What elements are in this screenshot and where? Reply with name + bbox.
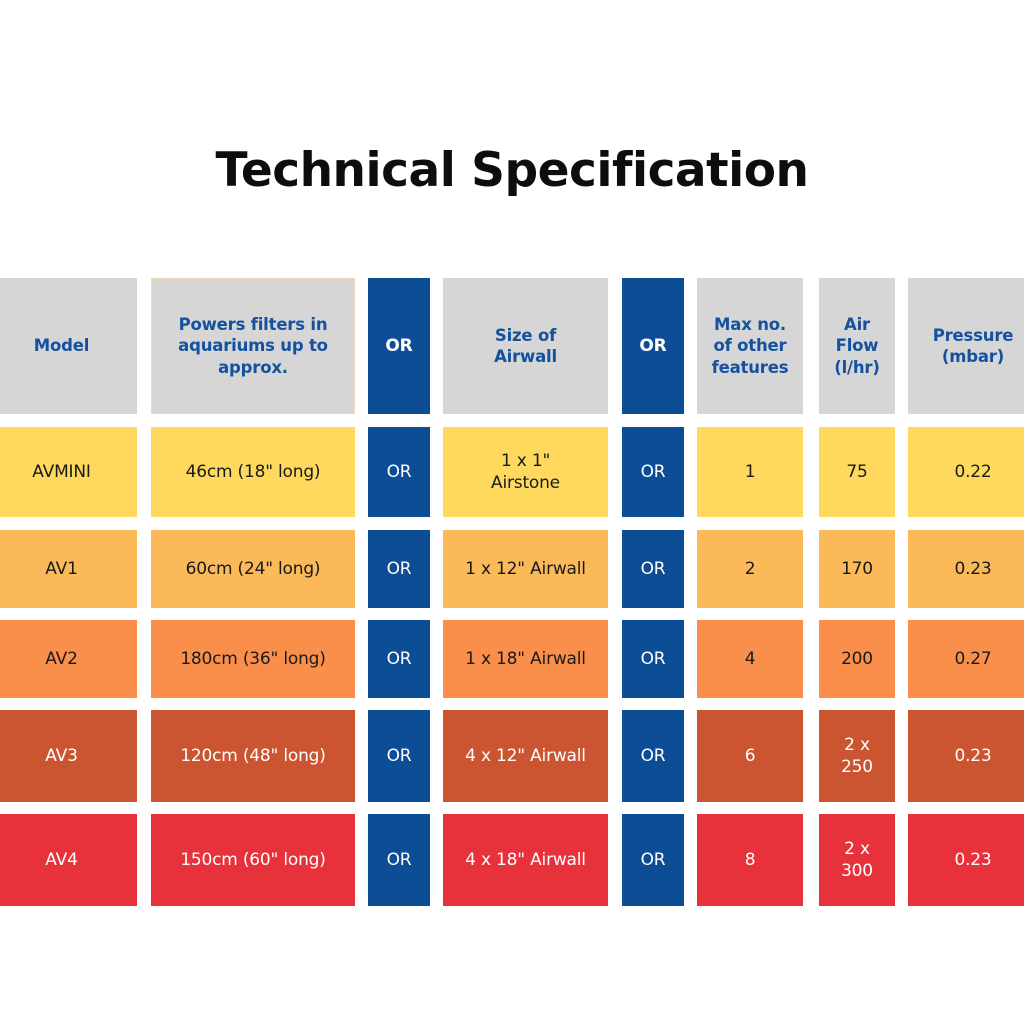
cell-text-line: 46cm (18" long)	[186, 461, 321, 483]
cell-text-line: 2	[745, 558, 756, 580]
cell-maxno: 2	[697, 530, 803, 608]
cell-text-line: Air	[834, 314, 879, 335]
cell-maxno: 4	[697, 620, 803, 698]
cell-model: AVMINI	[0, 427, 137, 517]
cell-text-line: OR	[641, 648, 666, 670]
cell-or-divider: OR	[622, 530, 684, 608]
column-header-maxno: Max no.of otherfeatures	[697, 278, 803, 414]
cell-text-line: AVMINI	[32, 461, 90, 483]
cell-text-line: (mbar)	[933, 346, 1014, 367]
cell-pressure: 0.22	[908, 427, 1024, 517]
cell-or-divider: OR	[368, 427, 430, 517]
table-row: AV2180cm (36" long)OR1 x 18" AirwallOR42…	[0, 620, 1024, 698]
table-header-row: ModelPowers filters inaquariums up toapp…	[0, 278, 1024, 414]
cell-size-of-airwall: 1 x 1"Airstone	[443, 427, 608, 517]
cell-text-line: 1	[745, 461, 756, 483]
cell-text-line: 250	[841, 756, 873, 778]
cell-text-line: 150cm (60" long)	[180, 849, 325, 871]
cell-text-line: Model	[34, 335, 89, 356]
cell-or-divider: OR	[622, 620, 684, 698]
column-header-or2: OR	[622, 278, 684, 414]
cell-text-line: 0.23	[954, 849, 991, 871]
cell-or-divider: OR	[368, 814, 430, 906]
cell-text-line: Airstone	[491, 472, 560, 494]
cell-or-divider: OR	[368, 530, 430, 608]
cell-text-line: 1 x 12" Airwall	[465, 558, 586, 580]
cell-text-line: 2 x	[841, 734, 873, 756]
cell-text-line: Size of	[494, 325, 557, 346]
table-row: AV4150cm (60" long)OR4 x 18" AirwallOR82…	[0, 814, 1024, 906]
cell-text-line: 120cm (48" long)	[180, 745, 325, 767]
cell-text-line: 170	[841, 558, 873, 580]
cell-text-line: OR	[641, 745, 666, 767]
page-title: Technical Specification	[0, 143, 1024, 198]
cell-maxno: 8	[697, 814, 803, 906]
column-header-pressure: Pressure(mbar)	[908, 278, 1024, 414]
cell-text-line: 180cm (36" long)	[180, 648, 325, 670]
cell-text-line: OR	[641, 849, 666, 871]
cell-text-line: OR	[387, 461, 412, 483]
column-header-airflow: AirFlow(l/hr)	[819, 278, 895, 414]
table-row: AV160cm (24" long)OR1 x 12" AirwallOR217…	[0, 530, 1024, 608]
cell-text-line: OR	[387, 648, 412, 670]
cell-air-flow: 75	[819, 427, 895, 517]
cell-text-line: Flow	[834, 335, 879, 356]
table-row: AVMINI46cm (18" long)OR1 x 1"AirstoneOR1…	[0, 427, 1024, 517]
cell-text-line: (l/hr)	[834, 357, 879, 378]
cell-text-line: 1 x 1"	[491, 450, 560, 472]
cell-maxno: 1	[697, 427, 803, 517]
cell-powers: 180cm (36" long)	[151, 620, 355, 698]
cell-or-divider: OR	[622, 710, 684, 802]
cell-text-line: features	[712, 357, 789, 378]
cell-text-line: 60cm (24" long)	[186, 558, 321, 580]
cell-powers: 60cm (24" long)	[151, 530, 355, 608]
cell-model: AV1	[0, 530, 137, 608]
cell-text-line: 0.23	[954, 745, 991, 767]
cell-text-line: 4 x 12" Airwall	[465, 745, 586, 767]
column-header-or1: OR	[368, 278, 430, 414]
cell-text-line: Pressure	[933, 325, 1014, 346]
table-row: AV3120cm (48" long)OR4 x 12" AirwallOR62…	[0, 710, 1024, 802]
cell-text-line: 8	[745, 849, 756, 871]
cell-text-line: 75	[846, 461, 867, 483]
cell-text-line: OR	[641, 461, 666, 483]
column-header-model: Model	[0, 278, 137, 414]
column-header-size: Size ofAirwall	[443, 278, 608, 414]
cell-text-line: 0.22	[954, 461, 991, 483]
cell-powers: 46cm (18" long)	[151, 427, 355, 517]
cell-text-line: OR	[385, 335, 412, 357]
cell-size-of-airwall: 1 x 12" Airwall	[443, 530, 608, 608]
cell-text-line: OR	[639, 335, 666, 357]
cell-model: AV2	[0, 620, 137, 698]
cell-text-line: Max no.	[712, 314, 789, 335]
cell-text-line: 6	[745, 745, 756, 767]
cell-size-of-airwall: 4 x 12" Airwall	[443, 710, 608, 802]
cell-size-of-airwall: 4 x 18" Airwall	[443, 814, 608, 906]
column-header-powers: Powers filters inaquariums up toapprox.	[151, 278, 355, 414]
cell-text-line: 1 x 18" Airwall	[465, 648, 586, 670]
cell-text-line: Airwall	[494, 346, 557, 367]
cell-maxno: 6	[697, 710, 803, 802]
cell-powers: 120cm (48" long)	[151, 710, 355, 802]
cell-text-line: of other	[712, 335, 789, 356]
cell-pressure: 0.23	[908, 814, 1024, 906]
cell-text-line: 300	[841, 860, 873, 882]
cell-air-flow: 170	[819, 530, 895, 608]
cell-or-divider: OR	[368, 620, 430, 698]
cell-text-line: AV1	[45, 558, 77, 580]
cell-pressure: 0.23	[908, 530, 1024, 608]
cell-model: AV4	[0, 814, 137, 906]
cell-text-line: OR	[387, 558, 412, 580]
cell-text-line: OR	[387, 849, 412, 871]
cell-text-line: 4 x 18" Airwall	[465, 849, 586, 871]
cell-text-line: 200	[841, 648, 873, 670]
cell-text-line: AV2	[45, 648, 77, 670]
specification-page: Technical Specification ModelPowers filt…	[0, 0, 1024, 1024]
cell-text-line: AV4	[45, 849, 77, 871]
cell-model: AV3	[0, 710, 137, 802]
cell-air-flow: 2 x250	[819, 710, 895, 802]
cell-text-line: 0.23	[954, 558, 991, 580]
cell-pressure: 0.27	[908, 620, 1024, 698]
cell-text-line: OR	[387, 745, 412, 767]
cell-text-line: AV3	[45, 745, 77, 767]
cell-text-line: approx.	[178, 357, 328, 378]
cell-or-divider: OR	[368, 710, 430, 802]
cell-size-of-airwall: 1 x 18" Airwall	[443, 620, 608, 698]
cell-or-divider: OR	[622, 814, 684, 906]
cell-pressure: 0.23	[908, 710, 1024, 802]
cell-text-line: 4	[745, 648, 756, 670]
cell-powers: 150cm (60" long)	[151, 814, 355, 906]
cell-text-line: Powers filters in	[178, 314, 328, 335]
cell-or-divider: OR	[622, 427, 684, 517]
cell-text-line: aquariums up to	[178, 335, 328, 356]
cell-text-line: 2 x	[841, 838, 873, 860]
cell-text-line: 0.27	[954, 648, 991, 670]
cell-text-line: OR	[641, 558, 666, 580]
cell-air-flow: 200	[819, 620, 895, 698]
cell-air-flow: 2 x300	[819, 814, 895, 906]
